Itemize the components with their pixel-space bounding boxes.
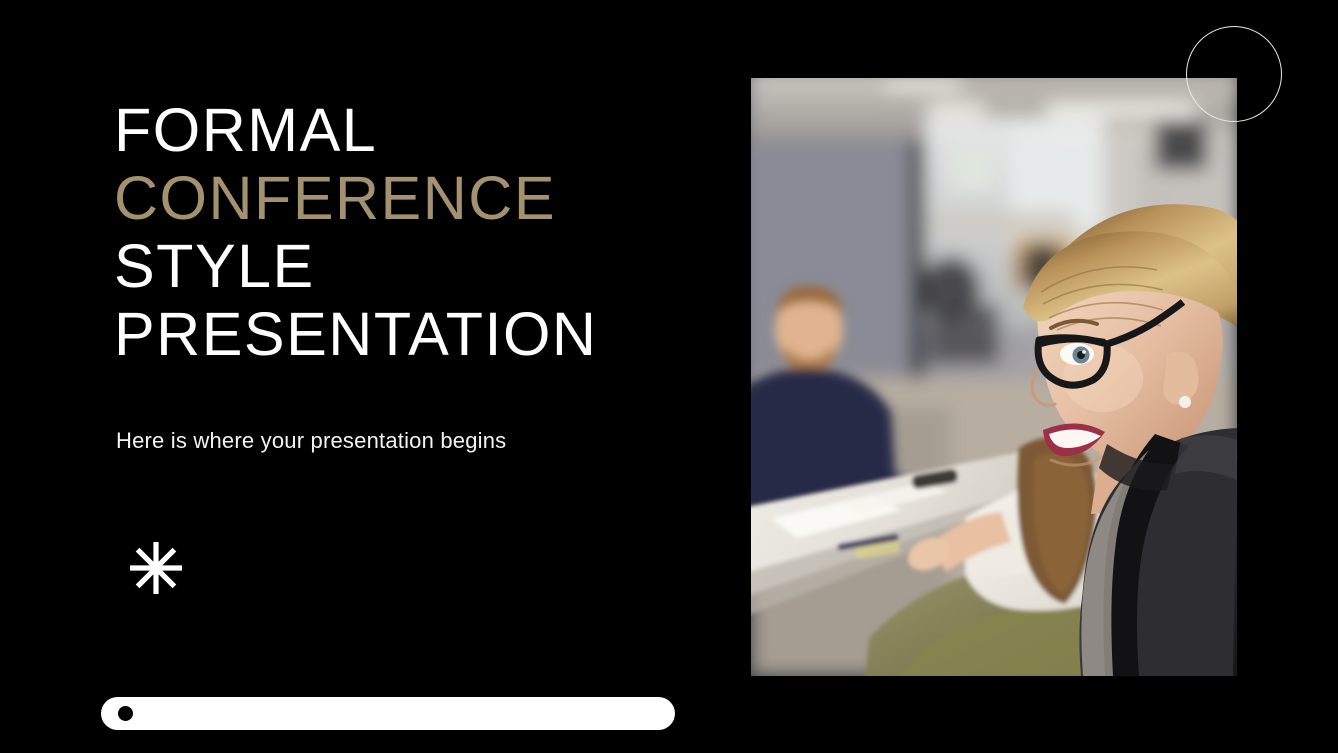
subtitle-text: Here is where your presentation begins	[116, 428, 506, 454]
title-line-1: FORMAL	[114, 96, 714, 164]
progress-bar[interactable]	[101, 697, 675, 730]
slide-canvas: FORMAL CONFERENCE STYLE PRESENTATION Her…	[0, 0, 1338, 753]
title-line-2: CONFERENCE	[114, 164, 714, 232]
hero-photo	[751, 78, 1237, 676]
title-line-4: PRESENTATION	[114, 300, 714, 368]
page-title: FORMAL CONFERENCE STYLE PRESENTATION	[114, 96, 714, 368]
title-line-3: STYLE	[114, 232, 714, 300]
circle-outline-icon	[1186, 26, 1282, 122]
progress-bar-handle[interactable]	[118, 706, 133, 721]
eight-point-asterisk-icon	[126, 538, 186, 598]
